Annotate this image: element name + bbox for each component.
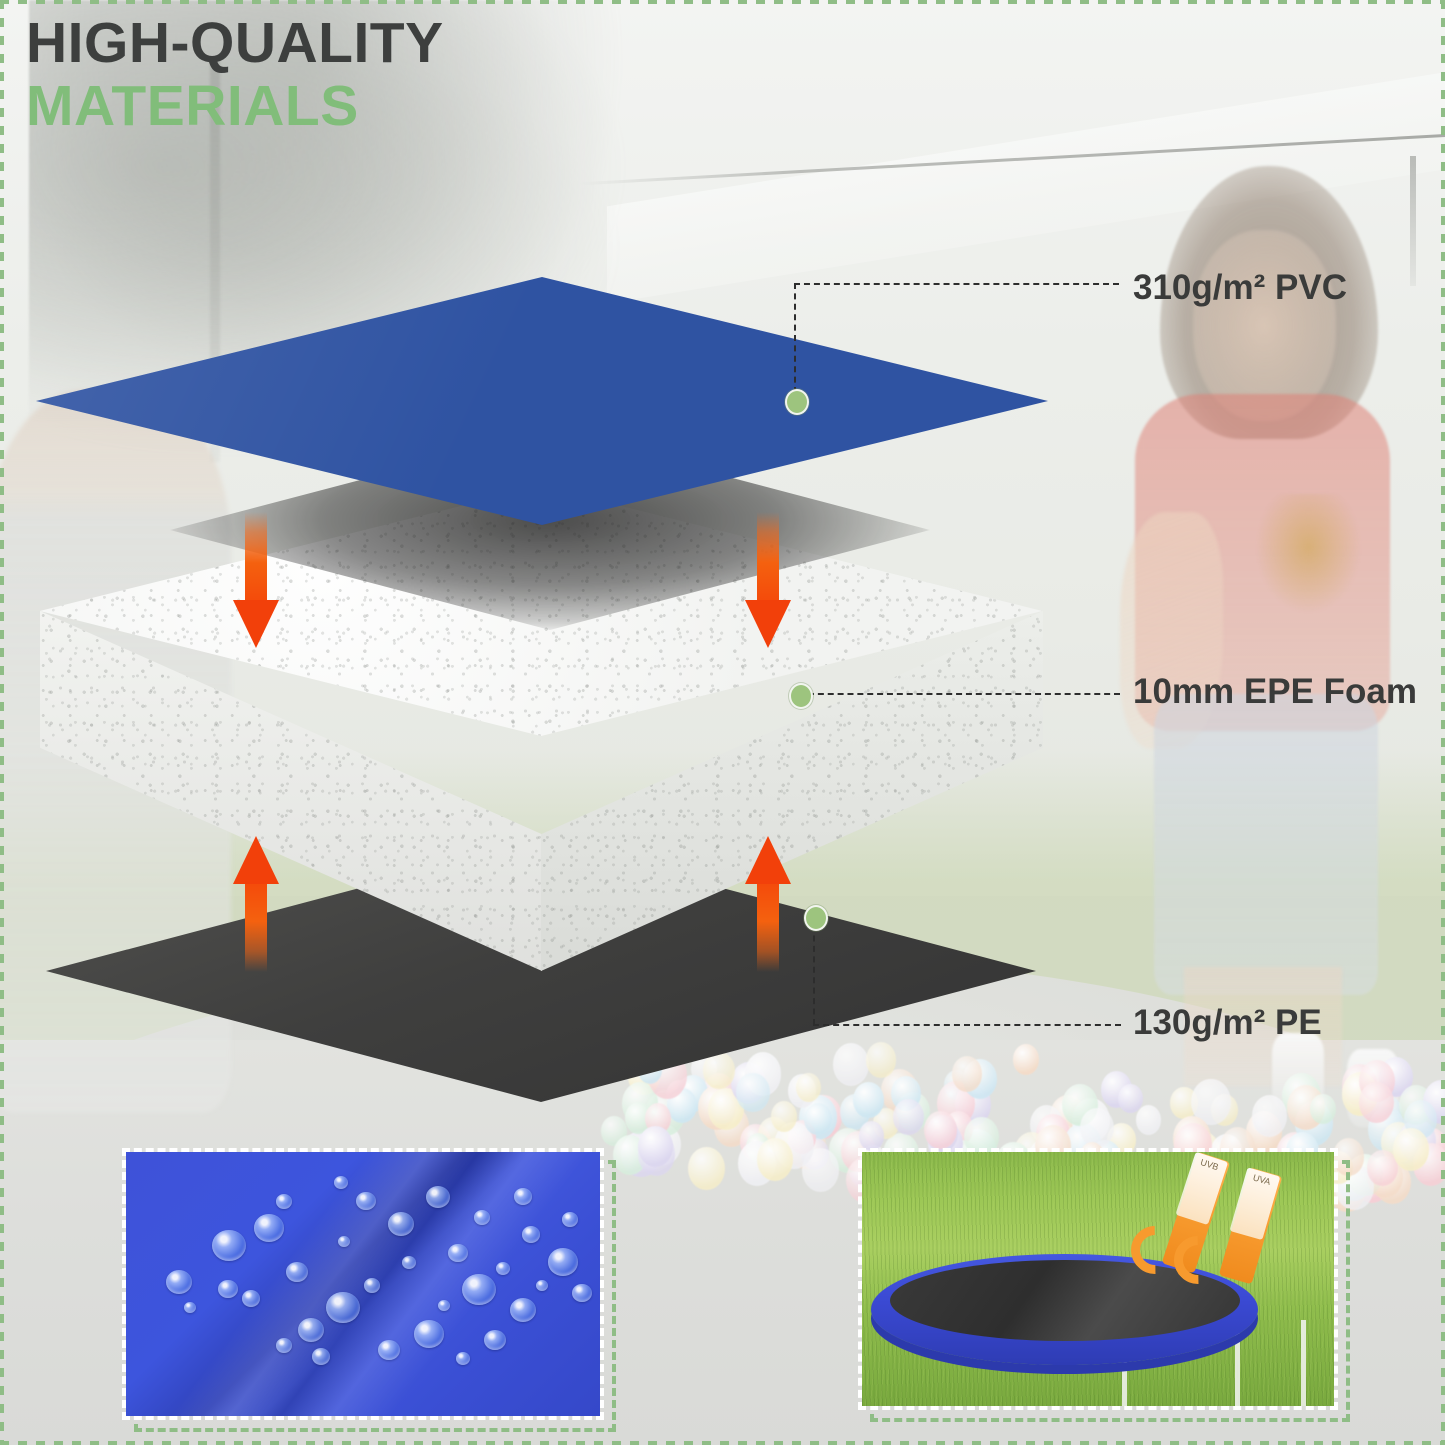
- trampoline-leg-2: [1235, 1330, 1240, 1406]
- water-droplet: [548, 1248, 578, 1276]
- water-droplet: [522, 1226, 540, 1243]
- water-droplet: [276, 1194, 292, 1209]
- water-droplet: [474, 1210, 490, 1225]
- water-droplet: [338, 1236, 350, 1247]
- child-shorts: [1154, 694, 1379, 994]
- pvc-sheet: [36, 277, 1048, 525]
- water-droplet: [212, 1230, 246, 1261]
- arrow-down-left-icon: [233, 512, 279, 648]
- inset-uv-protection: UVB UVA: [858, 1148, 1338, 1410]
- page-frame-left: [0, 0, 4, 1445]
- water-droplet: [510, 1298, 536, 1322]
- page-frame-bottom: [0, 1441, 1445, 1445]
- water-droplet: [276, 1338, 292, 1353]
- water-droplet: [312, 1348, 330, 1365]
- water-droplet: [388, 1212, 414, 1236]
- water-droplet: [254, 1214, 284, 1242]
- water-droplet: [326, 1292, 360, 1323]
- water-droplet: [184, 1302, 196, 1313]
- water-droplet: [364, 1278, 380, 1293]
- trampoline-leg-3: [1301, 1320, 1306, 1406]
- inset-left-photo: [122, 1148, 604, 1420]
- water-droplet: [496, 1262, 510, 1275]
- water-droplet: [536, 1280, 548, 1291]
- page-frame-top: [0, 0, 1445, 4]
- fabric-fold: [122, 1148, 604, 1420]
- page-frame-right: [1441, 0, 1445, 1445]
- callout-label-foam: 10mm EPE Foam: [1133, 672, 1417, 712]
- exploded-layer-diagram: [0, 0, 1080, 1130]
- arrow-up-left-icon: [233, 836, 279, 972]
- callout-dot-pe: [804, 905, 828, 931]
- callout-dot-pvc: [785, 389, 809, 415]
- inset-waterproof-fabric: [122, 1148, 604, 1420]
- water-droplet: [562, 1212, 578, 1227]
- pvc-sheen: [36, 277, 1048, 525]
- inset-right-photo: UVB UVA: [858, 1148, 1338, 1410]
- water-droplet: [514, 1188, 532, 1205]
- water-droplet: [298, 1318, 324, 1342]
- water-droplet: [166, 1270, 192, 1294]
- water-droplet: [462, 1274, 496, 1305]
- callout-label-pe: 130g/m² PE: [1133, 1003, 1322, 1043]
- arrow-down-right-icon: [745, 512, 791, 648]
- callout-label-pvc: 310g/m² PVC: [1133, 268, 1347, 308]
- arrow-up-right-icon: [745, 836, 791, 972]
- water-droplet: [402, 1256, 416, 1269]
- child-shirt-logo: [1257, 494, 1360, 612]
- water-droplet: [242, 1290, 260, 1307]
- water-droplet: [334, 1176, 348, 1189]
- callout-dot-foam: [789, 683, 813, 709]
- child-face: [1193, 230, 1336, 421]
- water-droplet: [456, 1352, 470, 1365]
- water-droplet: [414, 1320, 444, 1348]
- water-droplet: [438, 1300, 450, 1311]
- infographic-canvas: HIGH-QUALITY MATERIALS: [0, 0, 1445, 1445]
- water-droplet: [426, 1186, 450, 1208]
